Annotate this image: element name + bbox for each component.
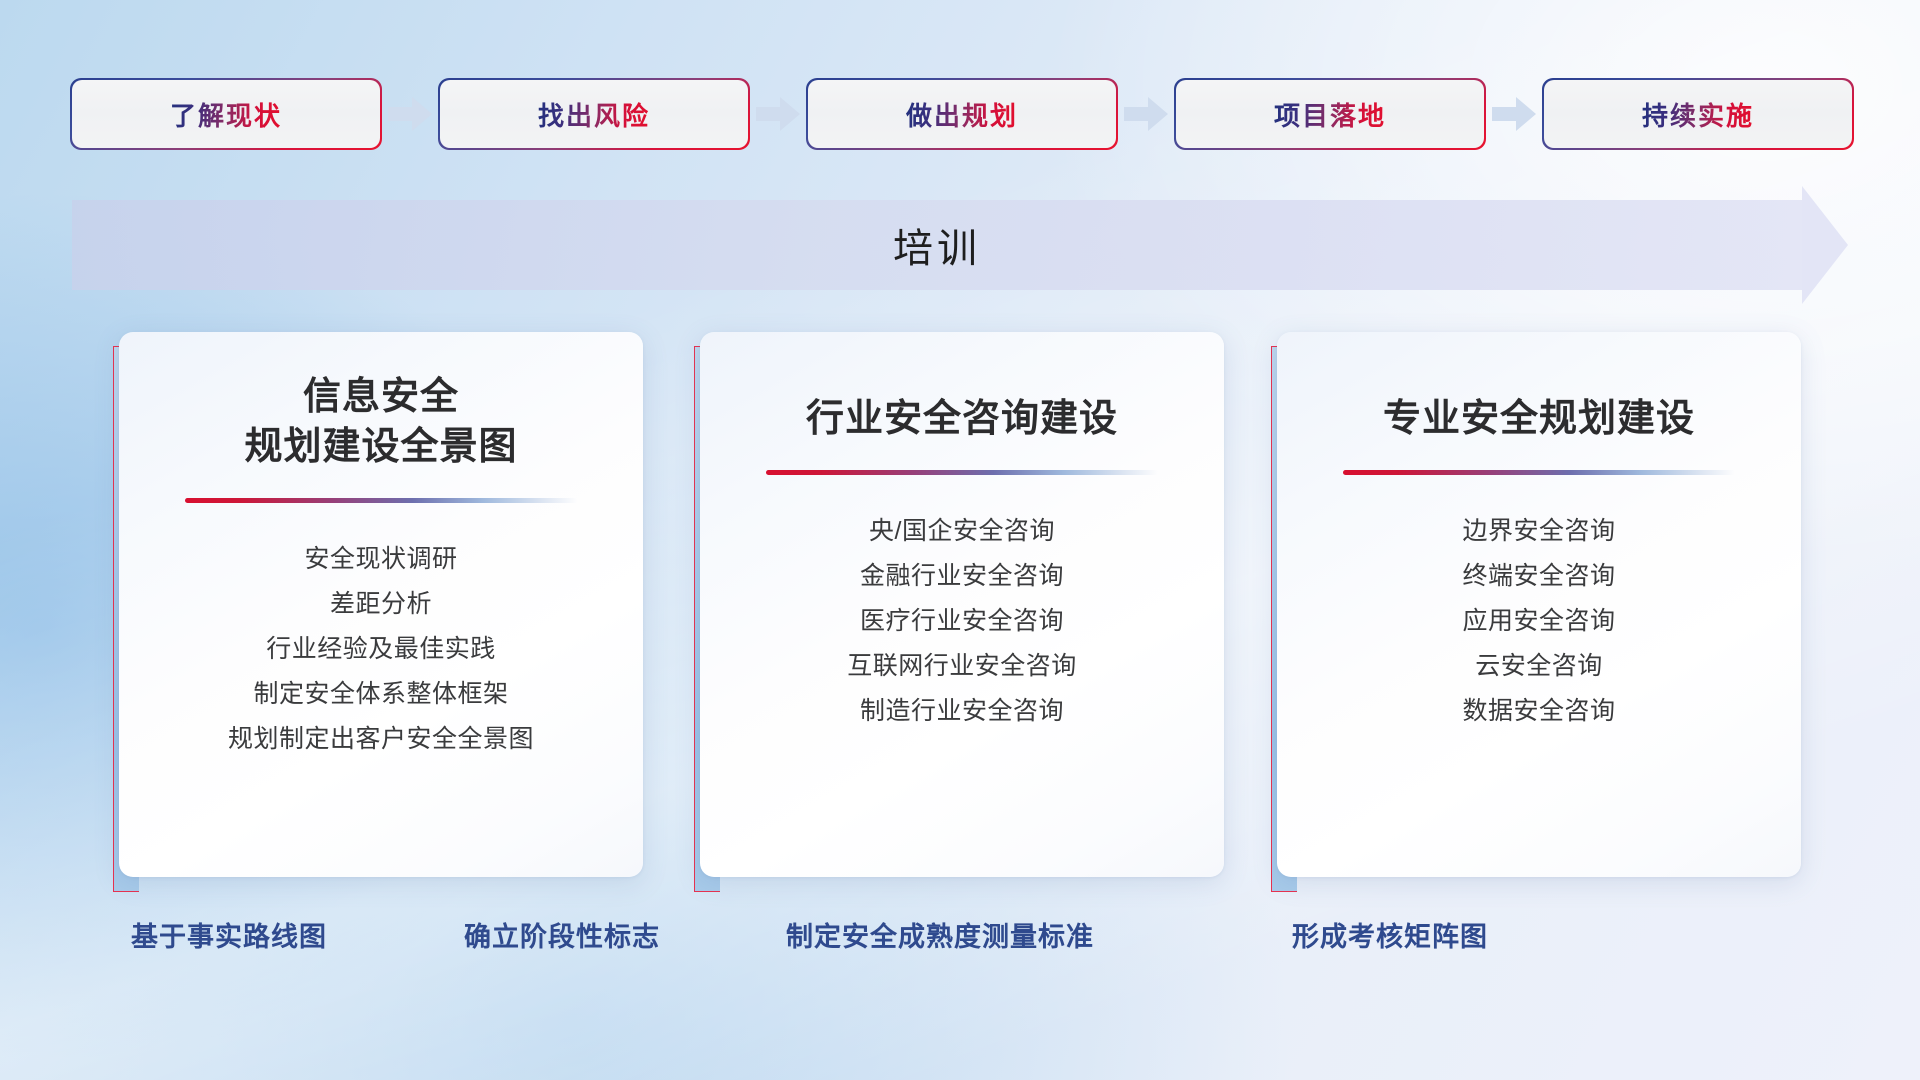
cards-row: 信息安全 规划建设全景图 安全现状调研 差距分析 行业经验及最佳实践 制定安全体… <box>0 332 1920 892</box>
list-item: 云安全咨询 <box>1475 644 1603 689</box>
step-label: 找出风险 <box>538 96 650 133</box>
arrow-right-icon <box>1484 97 1544 131</box>
list-item: 医疗行业安全咨询 <box>860 599 1064 644</box>
card-body: 信息安全 规划建设全景图 安全现状调研 差距分析 行业经验及最佳实践 制定安全体… <box>119 332 643 877</box>
caption-row: 基于事实路线图 确立阶段性标志 制定安全成熟度测量标准 形成考核矩阵图 <box>0 915 1920 961</box>
card-divider <box>1343 470 1735 475</box>
arrow-right-icon <box>748 97 808 131</box>
step-box-2[interactable]: 找出风险 <box>440 80 748 148</box>
card-list: 央/国企安全咨询 金融行业安全咨询 医疗行业安全咨询 互联网行业安全咨询 制造行… <box>700 509 1224 734</box>
card-title: 专业安全规划建设 <box>1383 394 1695 444</box>
step-box-5[interactable]: 持续实施 <box>1544 80 1852 148</box>
step-box-3[interactable]: 做出规划 <box>808 80 1116 148</box>
training-banner: 培训 <box>72 200 1848 290</box>
arrow-right-icon <box>1116 97 1176 131</box>
list-item: 应用安全咨询 <box>1462 599 1615 644</box>
process-step-row: 了解现状 找出风险 做出规划 项目落地 <box>72 78 1848 150</box>
list-item: 边界安全咨询 <box>1462 509 1615 554</box>
card-divider <box>766 470 1158 475</box>
caption-4: 形成考核矩阵图 <box>1292 915 1488 954</box>
list-item: 数据安全咨询 <box>1462 689 1615 734</box>
step-box-4[interactable]: 项目落地 <box>1176 80 1484 148</box>
list-item: 规划制定出客户安全全景图 <box>228 717 534 762</box>
step-label: 持续实施 <box>1642 96 1754 133</box>
list-item: 央/国企安全咨询 <box>869 509 1055 554</box>
caption-1: 基于事实路线图 <box>131 915 327 954</box>
card-body: 行业安全咨询建设 央/国企安全咨询 金融行业安全咨询 医疗行业安全咨询 互联网行… <box>700 332 1224 877</box>
list-item: 终端安全咨询 <box>1462 554 1615 599</box>
card-divider <box>185 498 577 503</box>
list-item: 制定安全体系整体框架 <box>253 672 508 717</box>
banner-arrow-tip-icon <box>1802 186 1848 304</box>
card-3[interactable]: 专业安全规划建设 边界安全咨询 终端安全咨询 应用安全咨询 云安全咨询 数据安全… <box>1271 332 1801 892</box>
step-label: 做出规划 <box>906 96 1018 133</box>
card-1[interactable]: 信息安全 规划建设全景图 安全现状调研 差距分析 行业经验及最佳实践 制定安全体… <box>113 332 643 892</box>
step-box-1[interactable]: 了解现状 <box>72 80 380 148</box>
caption-2: 确立阶段性标志 <box>464 915 660 954</box>
arrow-right-icon <box>380 97 440 131</box>
list-item: 金融行业安全咨询 <box>860 554 1064 599</box>
list-item: 差距分析 <box>330 582 432 627</box>
card-body: 专业安全规划建设 边界安全咨询 终端安全咨询 应用安全咨询 云安全咨询 数据安全… <box>1277 332 1801 877</box>
list-item: 行业经验及最佳实践 <box>266 627 496 672</box>
caption-3: 制定安全成熟度测量标准 <box>786 915 1094 954</box>
card-2[interactable]: 行业安全咨询建设 央/国企安全咨询 金融行业安全咨询 医疗行业安全咨询 互联网行… <box>694 332 1224 892</box>
list-item: 互联网行业安全咨询 <box>847 644 1077 689</box>
banner-title: 培训 <box>72 200 1802 290</box>
list-item: 安全现状调研 <box>304 537 457 582</box>
card-list: 边界安全咨询 终端安全咨询 应用安全咨询 云安全咨询 数据安全咨询 <box>1277 509 1801 734</box>
card-title: 信息安全 规划建设全景图 <box>244 372 517 472</box>
card-list: 安全现状调研 差距分析 行业经验及最佳实践 制定安全体系整体框架 规划制定出客户… <box>119 537 643 762</box>
step-label: 了解现状 <box>170 96 282 133</box>
card-title: 行业安全咨询建设 <box>806 394 1118 444</box>
list-item: 制造行业安全咨询 <box>860 689 1064 734</box>
step-label: 项目落地 <box>1274 96 1386 133</box>
infographic-canvas: 了解现状 找出风险 做出规划 项目落地 <box>0 0 1920 1080</box>
